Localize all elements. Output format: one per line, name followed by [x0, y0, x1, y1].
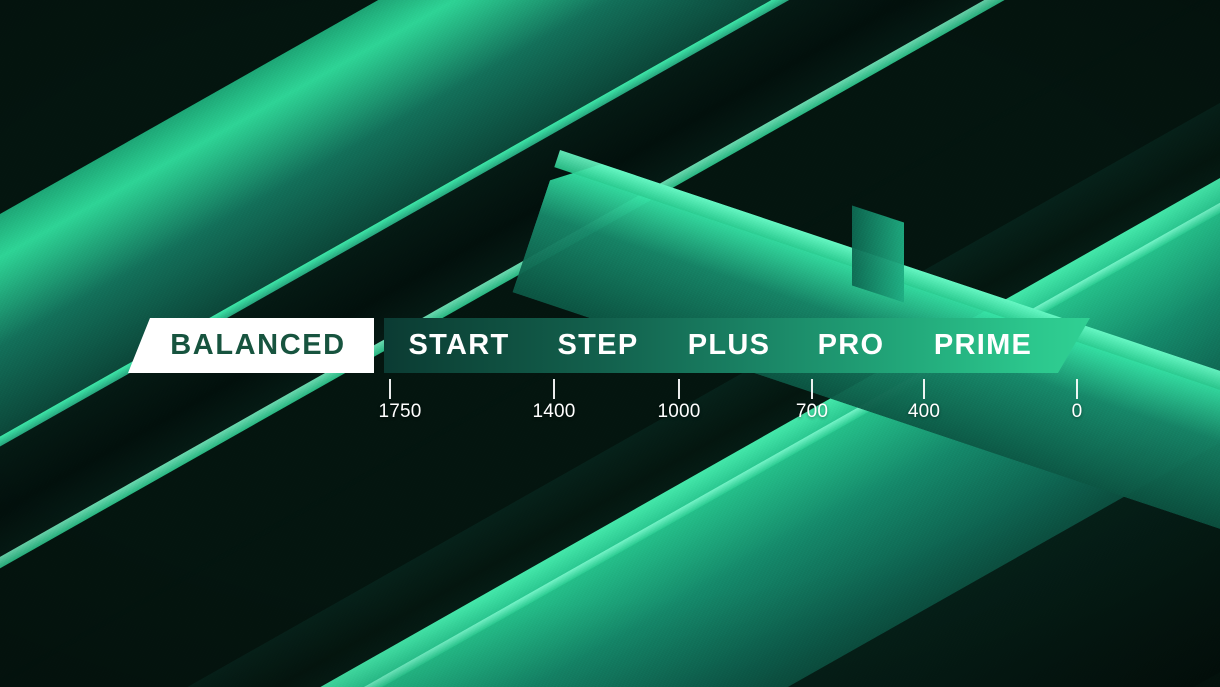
segment-prime: PRIME — [906, 318, 1060, 373]
tick-mark-700 — [811, 379, 813, 399]
tick-label-700: 700 — [796, 402, 828, 421]
segment-pro-label: PRO — [818, 331, 885, 360]
tick-mark-1750 — [389, 379, 391, 399]
balanced-label: BALANCED — [156, 331, 345, 360]
segment-start-label: START — [408, 331, 509, 360]
tier-scale: BALANCED START STEP PLUS PRO PRIME — [0, 0, 1220, 687]
segment-pro: PRO — [796, 318, 906, 373]
tick-label-1750: 1750 — [378, 402, 421, 421]
balanced-flag: BALANCED — [128, 318, 374, 373]
segment-plus-label: PLUS — [688, 331, 771, 360]
tick-label-1400: 1400 — [532, 402, 575, 421]
segment-step-label: STEP — [558, 331, 639, 360]
tick-mark-1000 — [678, 379, 680, 399]
segment-start: START — [384, 318, 534, 373]
tick-mark-400 — [923, 379, 925, 399]
segment-prime-label: PRIME — [934, 331, 1032, 360]
tick-label-400: 400 — [908, 402, 940, 421]
tick-mark-1400 — [553, 379, 555, 399]
segment-plus: PLUS — [662, 318, 796, 373]
tick-label-0: 0 — [1072, 402, 1083, 421]
segment-step: STEP — [534, 318, 662, 373]
segment-label-group: START STEP PLUS PRO PRIME — [384, 318, 1090, 373]
tick-mark-0 — [1076, 379, 1078, 399]
scale-graphic: BALANCED START STEP PLUS PRO PRIME — [0, 0, 1220, 687]
tick-label-1000: 1000 — [657, 402, 700, 421]
